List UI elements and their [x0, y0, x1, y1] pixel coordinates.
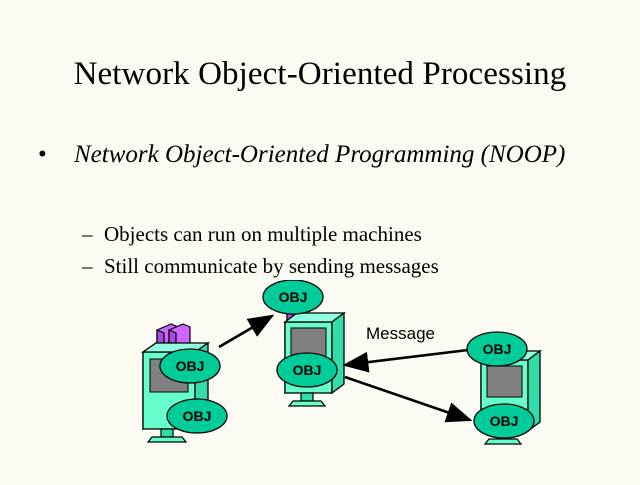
sub-bullet-1: – Objects can run on multiple machines: [82, 222, 582, 247]
arrow-center-to-right-bottom: [345, 377, 470, 420]
object-center-top-label: OBJ: [279, 289, 308, 305]
object-center-bottom: OBJ: [277, 353, 337, 387]
diagram-svg: OBJ OBJ: [0, 280, 640, 480]
noop-diagram: OBJ OBJ: [0, 280, 640, 480]
object-right-top: OBJ: [467, 332, 527, 366]
bullet-text: Network Object-Oriented Programming (NOO…: [74, 141, 598, 170]
sub-bullet-text: Still communicate by sending messages: [104, 254, 582, 279]
arrow-left-to-center: [219, 316, 272, 347]
sub-bullet-marker: –: [82, 222, 93, 247]
object-center-bottom-label: OBJ: [293, 362, 322, 378]
sub-bullet-marker: –: [82, 254, 93, 279]
message-label: Message: [366, 324, 435, 344]
object-left-bottom-label: OBJ: [183, 408, 212, 424]
object-left-bottom: OBJ: [167, 399, 227, 433]
arrow-right-to-center: [345, 350, 468, 365]
bullet-marker: •: [38, 141, 47, 170]
object-left-front: OBJ: [160, 349, 220, 383]
page-title: Network Object-Oriented Processing: [0, 56, 640, 93]
object-right-top-label: OBJ: [483, 341, 512, 357]
object-right-bottom: OBJ: [474, 404, 534, 438]
sub-bullet-2: – Still communicate by sending messages: [82, 254, 582, 279]
sub-bullet-text: Objects can run on multiple machines: [104, 222, 582, 247]
object-left-front-label: OBJ: [176, 358, 205, 374]
slide: Network Object-Oriented Processing • Net…: [0, 0, 640, 480]
bullet-item-primary: • Network Object-Oriented Programming (N…: [38, 141, 598, 170]
object-center-top: OBJ: [263, 280, 323, 314]
object-right-bottom-label: OBJ: [490, 413, 519, 429]
